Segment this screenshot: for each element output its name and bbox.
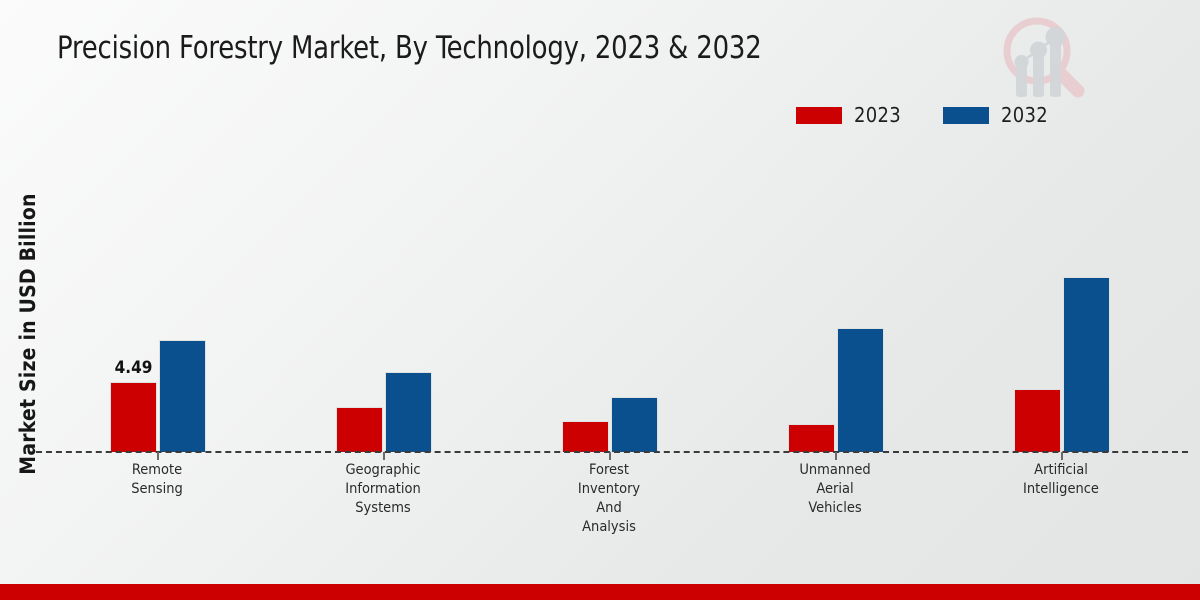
x-axis-label-line: Information [308, 480, 458, 499]
bar-group-forest-inventory-and-analysis [562, 150, 658, 452]
x-axis-label-line: Geographic [308, 461, 458, 480]
x-axis-label-remote-sensing: Remote Sensing [82, 461, 232, 499]
x-axis-label-line: Remote [82, 461, 232, 480]
x-axis-label-line: Analysis [534, 518, 684, 537]
x-axis-label-line: Intelligence [986, 480, 1136, 499]
bar-group-artificial-intelligence [1014, 150, 1110, 452]
bar-2032-geographic-information-systems[interactable] [385, 372, 432, 452]
x-axis-label-forest-inventory-and-analysis: Forest Inventory And Analysis [534, 461, 684, 537]
x-axis-label-line: Unmanned [760, 461, 910, 480]
x-axis-tick-2 [383, 452, 385, 460]
legend-label-2032: 2032 [1001, 103, 1048, 127]
bar-2032-artificial-intelligence[interactable] [1063, 277, 1110, 452]
watermark-logo-icon [985, 12, 1095, 102]
x-axis-label-geographic-information-systems: Geographic Information Systems [308, 461, 458, 518]
x-axis-label-line: Aerial [760, 480, 910, 499]
bar-group-unmanned-aerial-vehicles [788, 150, 884, 452]
x-axis-label-line: And [534, 499, 684, 518]
legend-label-2023: 2023 [854, 103, 901, 127]
bar-2023-geographic-information-systems[interactable] [336, 407, 383, 452]
bar-2023-artificial-intelligence[interactable] [1014, 389, 1061, 452]
x-axis-tick-3 [609, 452, 611, 460]
bar-2032-forest-inventory-and-analysis[interactable] [611, 397, 658, 452]
bar-2032-remote-sensing[interactable] [159, 340, 206, 452]
x-axis-label-line: Artificial [986, 461, 1136, 480]
chart-legend: 2023 2032 [796, 103, 1048, 127]
bar-value-label: 4.49 [115, 358, 153, 378]
x-axis-baseline [36, 451, 1188, 453]
x-axis-label-line: Inventory [534, 480, 684, 499]
x-axis-label-line: Vehicles [760, 499, 910, 518]
x-axis-label-artificial-intelligence: Artificial Intelligence [986, 461, 1136, 499]
bar-2023-remote-sensing[interactable]: 4.49 [110, 382, 157, 452]
legend-swatch-2023 [796, 107, 842, 124]
x-axis-label-unmanned-aerial-vehicles: Unmanned Aerial Vehicles [760, 461, 910, 518]
bar-2023-unmanned-aerial-vehicles[interactable] [788, 424, 835, 452]
x-axis-label-line: Sensing [82, 480, 232, 499]
chart-canvas: Precision Forestry Market, By Technology… [0, 0, 1200, 600]
bar-2032-unmanned-aerial-vehicles[interactable] [837, 328, 884, 452]
x-axis-label-line: Forest [534, 461, 684, 480]
bar-group-geographic-information-systems [336, 150, 432, 452]
plot-area: 4.49 [36, 150, 1188, 452]
x-axis-tick-5 [1061, 452, 1063, 460]
footer-accent-strip [0, 584, 1200, 600]
x-axis-label-line: Systems [308, 499, 458, 518]
legend-item-2023[interactable]: 2023 [796, 103, 901, 127]
legend-item-2032[interactable]: 2032 [943, 103, 1048, 127]
bar-2023-forest-inventory-and-analysis[interactable] [562, 421, 609, 452]
legend-swatch-2032 [943, 107, 989, 124]
x-axis-tick-1 [157, 452, 159, 460]
x-axis-tick-4 [835, 452, 837, 460]
chart-title: Precision Forestry Market, By Technology… [57, 30, 762, 66]
bar-group-remote-sensing: 4.49 [110, 150, 206, 452]
